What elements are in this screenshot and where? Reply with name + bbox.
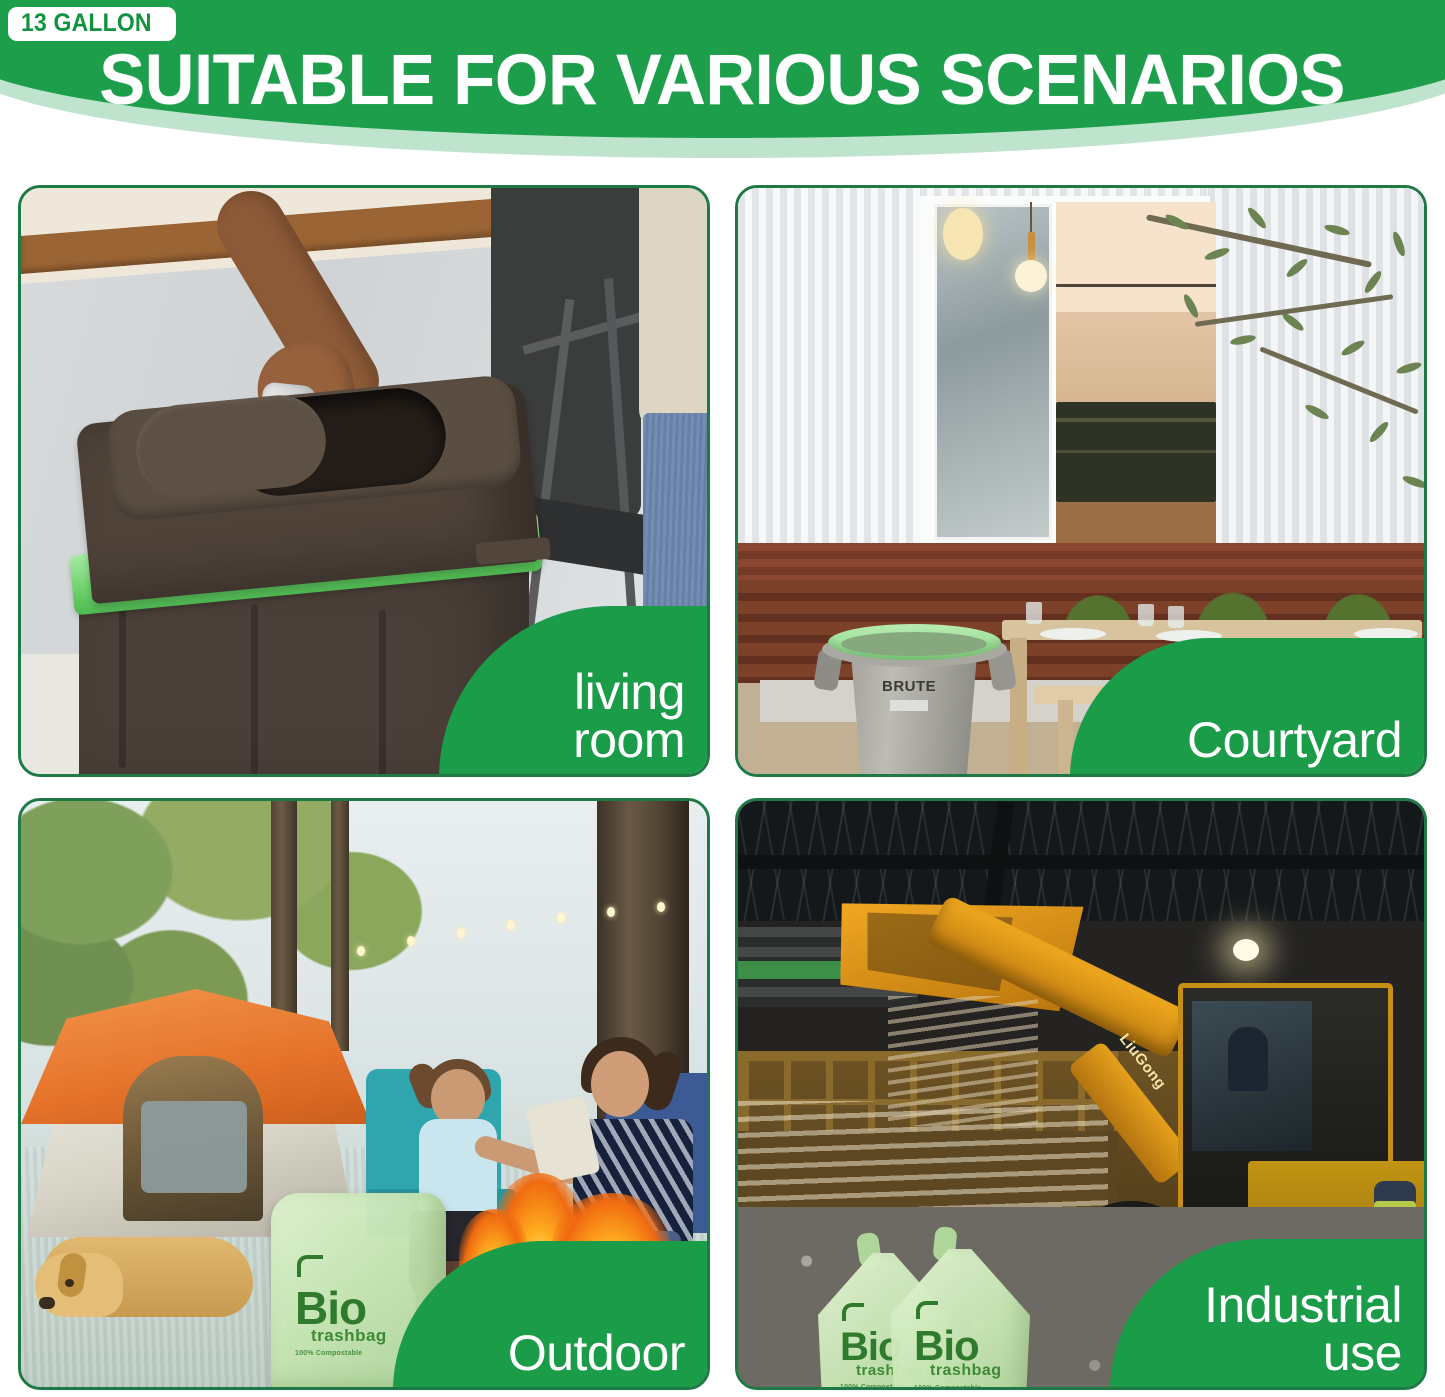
dog-nose (39, 1297, 55, 1309)
leaf (1323, 223, 1350, 237)
pendant-lamp-small (1015, 260, 1047, 292)
leaf (1391, 230, 1407, 257)
ceiling-light (1233, 939, 1259, 961)
bio-logo-hook-icon (297, 1255, 323, 1277)
bin-spec-tag (890, 700, 928, 711)
header-banner: 13 GALLON SUITABLE FOR VARIOUS SCENARIOS (0, 0, 1445, 165)
leaf (1284, 257, 1309, 280)
olive-tree-branches (1134, 188, 1424, 518)
glass-3 (1168, 606, 1184, 628)
light-bulb (407, 936, 415, 946)
plate-1 (1040, 628, 1106, 640)
string-lights (351, 896, 707, 956)
leaf (1401, 474, 1424, 490)
dog-eye (65, 1279, 74, 1287)
bin-rib (379, 610, 386, 774)
leaf (1362, 269, 1383, 295)
scenario-panel-living-room[interactable]: EVA COMPOSTABLE living room (18, 185, 710, 777)
glass-1 (1026, 602, 1042, 624)
bin-rib (119, 598, 126, 768)
pendant-lamp-large (943, 208, 983, 260)
leaf (1203, 246, 1230, 262)
tree-trunk-1 (271, 801, 297, 1041)
glass-2 (1138, 604, 1154, 626)
bin-rib (251, 604, 258, 774)
loader-driver (1228, 1027, 1268, 1091)
branch-3 (1259, 346, 1418, 414)
bio-logo: Bio trashbag 100% Compostable (914, 1325, 1002, 1387)
tent-mesh-window (141, 1101, 247, 1193)
leaf (1181, 293, 1200, 320)
capacity-badge-label: 13 GALLON (21, 11, 152, 36)
scenario-grid: EVA COMPOSTABLE living room (18, 185, 1427, 1385)
page-title: SUITABLE FOR VARIOUS SCENARIOS (0, 45, 1445, 116)
light-bulb (507, 920, 515, 930)
leaf (1367, 420, 1390, 445)
person-shirt (639, 188, 707, 428)
scenario-panel-outdoor[interactable]: Bio trashbag 100% Compostable Outdoor (18, 798, 710, 1390)
light-bulb (357, 946, 365, 956)
roof-beam-1 (738, 855, 1424, 869)
brute-brand-label: BRUTE (882, 678, 960, 695)
scenario-panel-industrial-use[interactable]: LiuGong Bio trashbag 100% Compostable (735, 798, 1427, 1390)
light-bulb (457, 928, 465, 938)
bin-opening (841, 632, 987, 656)
light-bulb (557, 913, 565, 923)
pendant-lamp-stem (1028, 232, 1035, 262)
bio-logo-hook-icon (916, 1301, 938, 1319)
pendant-lamp-cord (1030, 202, 1032, 234)
table-leg-left (1010, 638, 1027, 774)
bio-logo-hook-icon (842, 1303, 864, 1321)
falling-waste (888, 996, 1038, 1126)
leaf (1280, 311, 1305, 333)
leaf (1304, 402, 1331, 421)
bio-logo: Bio trashbag 100% Compostable (295, 1285, 387, 1357)
leaf (1229, 333, 1256, 346)
leaf (1246, 205, 1269, 230)
scenario-panel-courtyard[interactable]: BRUTE Courtyard (735, 185, 1427, 777)
leaf (1340, 338, 1367, 358)
leaf (1395, 360, 1422, 376)
capacity-badge: 13 GALLON (8, 7, 176, 41)
tree-trunk-2 (331, 801, 349, 1051)
light-bulb (607, 907, 615, 917)
light-bulb (657, 902, 665, 912)
woman-head (591, 1051, 649, 1117)
